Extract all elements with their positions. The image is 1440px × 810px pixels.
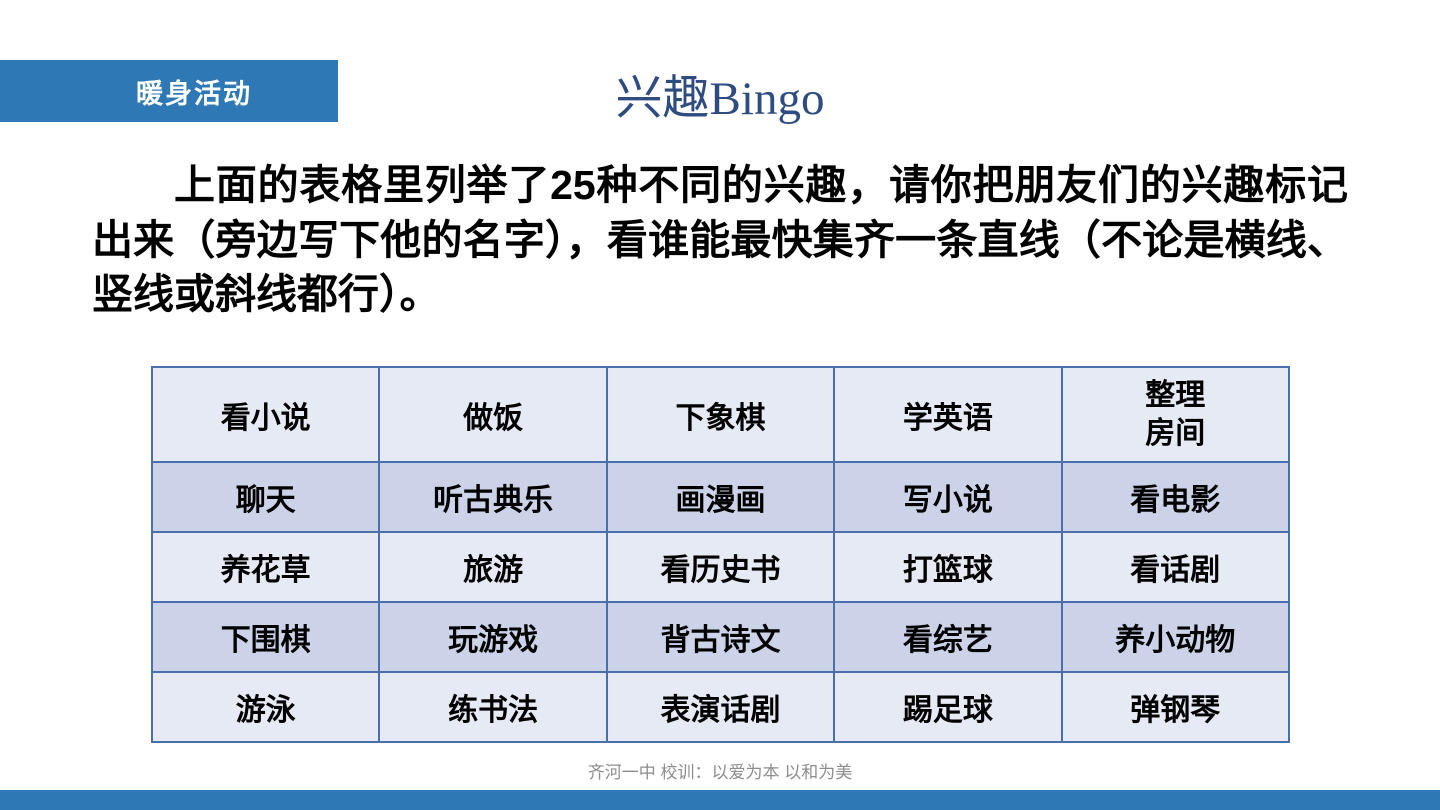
bingo-cell[interactable]: 练书法 (379, 672, 606, 742)
bingo-cell[interactable]: 下围棋 (152, 602, 379, 672)
bingo-grid-body: 看小说做饭下象棋学英语整理 房间聊天听古典乐画漫画写小说看电影养花草旅游看历史书… (152, 367, 1289, 742)
bingo-cell[interactable]: 养花草 (152, 532, 379, 602)
page-title: 兴趣Bingo (400, 60, 1040, 126)
bingo-cell[interactable]: 游泳 (152, 672, 379, 742)
bingo-cell[interactable]: 踢足球 (834, 672, 1061, 742)
bingo-cell[interactable]: 玩游戏 (379, 602, 606, 672)
bingo-grid: 看小说做饭下象棋学英语整理 房间聊天听古典乐画漫画写小说看电影养花草旅游看历史书… (151, 366, 1290, 743)
bingo-cell[interactable]: 表演话剧 (607, 672, 834, 742)
footer-accent-band (0, 790, 1440, 810)
section-label-band: 暖身活动 (0, 60, 338, 122)
bingo-cell[interactable]: 旅游 (379, 532, 606, 602)
bingo-cell[interactable]: 下象棋 (607, 367, 834, 462)
bingo-cell[interactable]: 弹钢琴 (1062, 672, 1289, 742)
bingo-cell[interactable]: 养小动物 (1062, 602, 1289, 672)
bingo-row: 养花草旅游看历史书打篮球看话剧 (152, 532, 1289, 602)
bingo-cell[interactable]: 聊天 (152, 462, 379, 532)
bingo-cell[interactable]: 看综艺 (834, 602, 1061, 672)
slide-canvas: 暖身活动 兴趣Bingo 上面的表格里列举了25种不同的兴趣，请你把朋友们的兴趣… (0, 0, 1440, 810)
bingo-row: 下围棋玩游戏背古诗文看综艺养小动物 (152, 602, 1289, 672)
bingo-cell[interactable]: 看小说 (152, 367, 379, 462)
bingo-cell[interactable]: 整理 房间 (1062, 367, 1289, 462)
bingo-row: 聊天听古典乐画漫画写小说看电影 (152, 462, 1289, 532)
bingo-cell[interactable]: 打篮球 (834, 532, 1061, 602)
bingo-cell[interactable]: 看话剧 (1062, 532, 1289, 602)
bingo-cell[interactable]: 画漫画 (607, 462, 834, 532)
instruction-paragraph: 上面的表格里列举了25种不同的兴趣，请你把朋友们的兴趣标记出来（旁边写下他的名字… (92, 158, 1348, 322)
bingo-row: 看小说做饭下象棋学英语整理 房间 (152, 367, 1289, 462)
bingo-row: 游泳练书法表演话剧踢足球弹钢琴 (152, 672, 1289, 742)
bingo-cell[interactable]: 学英语 (834, 367, 1061, 462)
bingo-cell[interactable]: 做饭 (379, 367, 606, 462)
bingo-cell[interactable]: 听古典乐 (379, 462, 606, 532)
bingo-cell[interactable]: 看电影 (1062, 462, 1289, 532)
bingo-cell[interactable]: 背古诗文 (607, 602, 834, 672)
footer-motto: 齐河一中 校训：以爱为本 以和为美 (0, 758, 1440, 783)
bingo-cell[interactable]: 看历史书 (607, 532, 834, 602)
section-label-text: 暖身活动 (0, 60, 338, 122)
bingo-cell[interactable]: 写小说 (834, 462, 1061, 532)
